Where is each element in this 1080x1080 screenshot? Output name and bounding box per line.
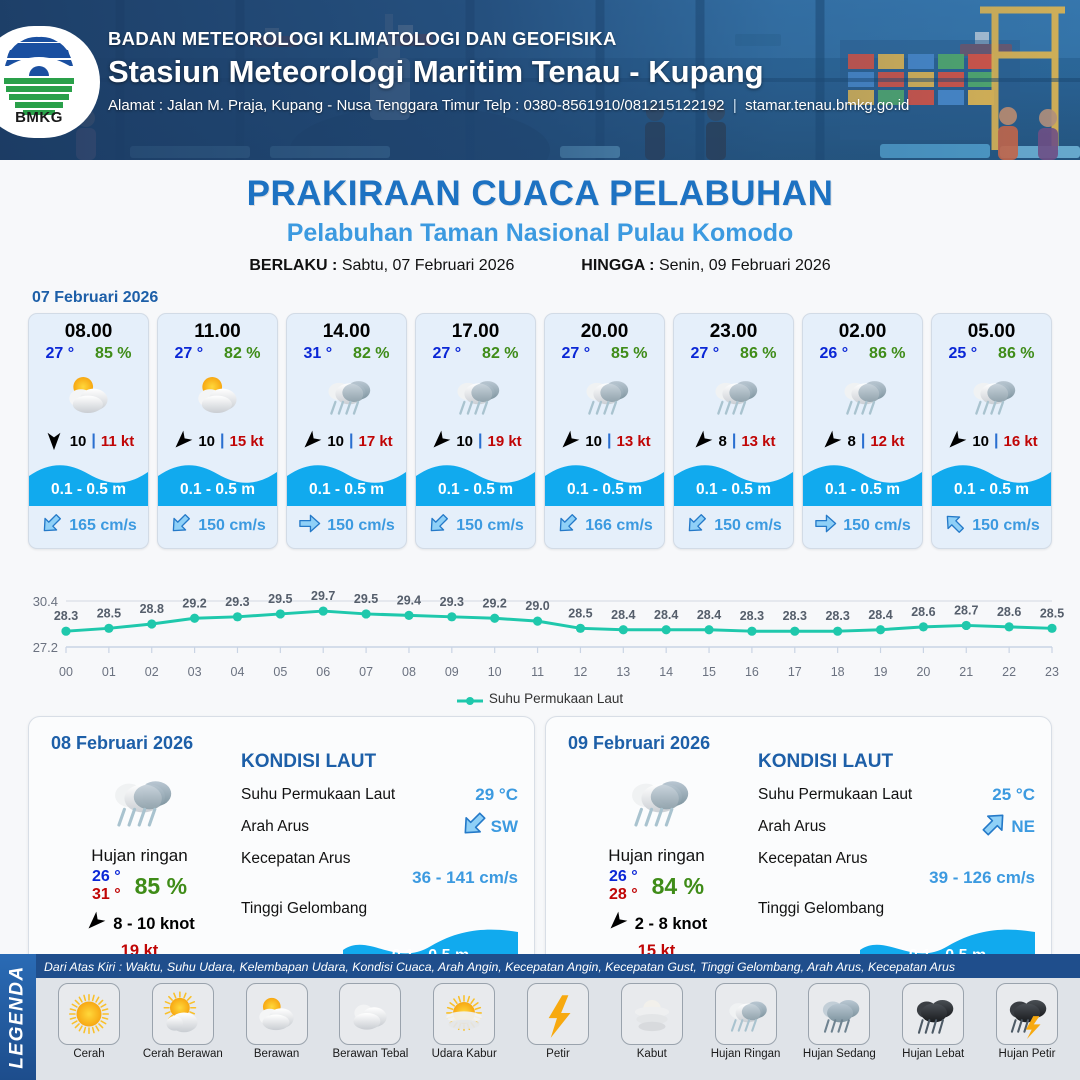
legend-item: Cerah Berawan xyxy=(138,983,228,1078)
legend-section: LEGENDA Dari Atas Kiri : Waktu, Suhu Uda… xyxy=(0,954,1080,1080)
card-weather-hujan-ringan-icon xyxy=(932,366,1051,424)
card-weather-hujan-ringan-icon xyxy=(416,366,535,424)
svg-text:28.6: 28.6 xyxy=(997,605,1021,619)
current-direction-arrow-icon xyxy=(40,512,63,540)
card-wave-zone: 0.1 - 0.5 m xyxy=(29,460,148,506)
svg-text:29.0: 29.0 xyxy=(525,599,549,613)
daily-condition: Hujan ringan xyxy=(47,846,232,866)
sst-label: Suhu Permukaan Laut xyxy=(241,786,395,804)
svg-text:28.6: 28.6 xyxy=(911,605,935,619)
card-wind-row: 10 | 11 kt xyxy=(29,424,148,460)
current-direction-value-group: SW xyxy=(460,810,518,843)
card-temp-hum-row: 27 ° 86 % xyxy=(674,345,793,366)
current-speed-label: Kecepatan Arus xyxy=(241,850,350,868)
current-direction-arrow-icon xyxy=(556,512,579,540)
card-weather-berawan-icon xyxy=(158,366,277,424)
svg-text:28.3: 28.3 xyxy=(54,609,78,623)
legend-petir-icon xyxy=(527,983,589,1045)
sst-chart-xaxis: 0001020304050607080910111213141516171819… xyxy=(14,665,1066,683)
daily-wind-row: 8 - 10 knot xyxy=(47,911,232,938)
daily-temp-hum-row: 26 ° 28 ° 84 % xyxy=(564,868,749,904)
wind-direction-arrow-icon xyxy=(43,430,65,452)
wind-direction-arrow-icon xyxy=(820,430,842,452)
card-wind-speed: 10 xyxy=(456,433,473,450)
card-current-speed: 150 cm/s xyxy=(456,517,524,535)
card-wind-speed: 10 xyxy=(327,433,344,450)
legend-banner-label: LEGENDA xyxy=(7,965,29,1068)
wind-direction-arrow-icon xyxy=(691,430,713,452)
card-weather-hujan-ringan-icon xyxy=(287,366,406,424)
legend-item: Berawan Tebal xyxy=(325,983,415,1078)
wave-height-label: Tinggi Gelombang xyxy=(241,900,367,918)
address-text: Alamat : Jalan M. Praja, Kupang - Nusa T… xyxy=(108,97,725,114)
legend-item: Udara Kabur xyxy=(419,983,509,1078)
card-current-row: 150 cm/s xyxy=(287,506,406,548)
legend-item-label: Hujan Lebat xyxy=(902,1048,964,1060)
svg-text:28.3: 28.3 xyxy=(825,609,849,623)
svg-text:28.3: 28.3 xyxy=(783,609,807,623)
wind-separator: | xyxy=(994,432,998,450)
legend-hujan-petir-icon xyxy=(996,983,1058,1045)
hourly-card[interactable]: 11.00 27 ° 82 % 10 | 15 kt 0.1 - 0.5 m xyxy=(157,313,278,549)
card-wind-speed: 10 xyxy=(70,433,87,450)
card-wind-row: 10 | 16 kt xyxy=(932,424,1051,460)
sst-legend-marker xyxy=(457,694,483,704)
card-current-row: 150 cm/s xyxy=(158,506,277,548)
daily-wind-range: 8 - 10 knot xyxy=(113,915,195,934)
card-current-speed: 166 cm/s xyxy=(585,517,653,535)
legend-item: Petir xyxy=(513,983,603,1078)
legend-banner: LEGENDA xyxy=(0,954,36,1080)
svg-text:29.5: 29.5 xyxy=(268,592,292,606)
hourly-card[interactable]: 23.00 27 ° 86 % 8 | 13 kt 0.1 - 0.5 m xyxy=(673,313,794,549)
card-humidity: 86 % xyxy=(998,345,1034,363)
daily-weather-hujan-ringan-icon xyxy=(47,761,232,844)
daily-sea-conditions: KONDISI LAUT Suhu Permukaan Laut 25 °C A… xyxy=(758,751,1035,974)
legend-item-label: Udara Kabur xyxy=(432,1048,497,1060)
bmkg-logo-text: BMKG xyxy=(0,109,81,126)
svg-text:28.7: 28.7 xyxy=(954,603,978,617)
wind-direction-arrow-icon xyxy=(558,430,580,452)
sst-value: 29 °C xyxy=(475,785,518,805)
daily-forecast-panel[interactable]: 08 Februari 2026 Hujan ringan 26 ° 31 ° … xyxy=(28,716,535,969)
legend-item-label: Berawan xyxy=(254,1048,299,1060)
daily-forecast-row: 08 Februari 2026 Hujan ringan 26 ° 31 ° … xyxy=(0,706,1080,969)
card-humidity: 86 % xyxy=(869,345,905,363)
legend-cerah-icon xyxy=(58,983,120,1045)
sst-xtick-label: 23 xyxy=(1045,665,1059,679)
legend-item: Hujan Lebat xyxy=(888,983,978,1078)
daily-sea-conditions: KONDISI LAUT Suhu Permukaan Laut 29 °C A… xyxy=(241,751,518,974)
card-wave-zone: 0.1 - 0.5 m xyxy=(803,460,922,506)
sst-xtick-label: 19 xyxy=(874,665,888,679)
card-temperature: 27 ° xyxy=(432,345,461,363)
daily-date: 09 Februari 2026 xyxy=(568,733,710,754)
daily-wind-direction-arrow-icon xyxy=(84,911,106,938)
card-humidity: 86 % xyxy=(740,345,776,363)
card-weather-hujan-ringan-icon xyxy=(545,366,664,424)
current-direction-arrow-icon xyxy=(814,512,837,540)
card-current-speed: 150 cm/s xyxy=(198,517,266,535)
legend-cerah-berawan-icon xyxy=(152,983,214,1045)
sst-label: Suhu Permukaan Laut xyxy=(758,786,912,804)
wind-separator: | xyxy=(91,432,95,450)
card-current-speed: 150 cm/s xyxy=(843,517,911,535)
card-wind-row: 10 | 19 kt xyxy=(416,424,535,460)
hourly-forecast-row: 08.00 27 ° 85 % 10 | 11 kt 0.1 - 0.5 m xyxy=(0,313,1080,549)
current-speed-value: 39 - 126 cm/s xyxy=(929,868,1035,888)
svg-text:29.2: 29.2 xyxy=(182,596,206,610)
sst-chart: 30.427.228.328.528.829.229.329.529.729.5… xyxy=(14,565,1066,665)
card-weather-berawan-icon xyxy=(29,366,148,424)
current-direction-arrow-icon xyxy=(298,512,321,540)
sst-xtick-label: 16 xyxy=(745,665,759,679)
current-direction-arrow-icon xyxy=(980,810,1008,843)
current-direction-value-group: NE xyxy=(980,810,1035,843)
legend-hujan-ringan-icon xyxy=(715,983,777,1045)
wind-separator: | xyxy=(861,432,865,450)
card-wind-speed: 10 xyxy=(972,433,989,450)
svg-text:30.4: 30.4 xyxy=(33,594,58,609)
sea-conditions-title: KONDISI LAUT xyxy=(758,751,1035,773)
station-name: Stasiun Meteorologi Maritim Tenau - Kupa… xyxy=(108,54,909,90)
wind-direction-arrow-icon xyxy=(429,430,451,452)
svg-text:28.4: 28.4 xyxy=(697,608,721,622)
legend-content: Dari Atas Kiri : Waktu, Suhu Udara, Kele… xyxy=(36,954,1080,1080)
title-block: PRAKIRAAN CUACA PELABUHAN Pelabuhan Tama… xyxy=(0,160,1080,275)
card-wind-gust: 15 kt xyxy=(229,433,263,450)
station-address: Alamat : Jalan M. Praja, Kupang - Nusa T… xyxy=(108,97,909,114)
current-direction-arrow-icon xyxy=(427,512,450,540)
daily-temp-min: 26 ° xyxy=(92,868,121,886)
daily-temp-hum-row: 26 ° 31 ° 85 % xyxy=(47,868,232,904)
daily-weather-hujan-ringan-icon xyxy=(564,761,749,844)
card-temp-hum-row: 26 ° 86 % xyxy=(803,345,922,366)
hourly-card[interactable]: 17.00 27 ° 82 % 10 | 19 kt 0.1 - 0.5 m xyxy=(415,313,536,549)
legend-hujan-lebat-icon xyxy=(902,983,964,1045)
card-wind-gust: 12 kt xyxy=(870,433,904,450)
legend-item-label: Hujan Sedang xyxy=(803,1048,876,1060)
card-current-speed: 165 cm/s xyxy=(69,517,137,535)
current-direction-label: Arah Arus xyxy=(758,818,826,836)
sst-xtick-label: 11 xyxy=(531,665,544,679)
card-wave-height: 0.1 - 0.5 m xyxy=(803,481,922,499)
wind-separator: | xyxy=(478,432,482,450)
sea-conditions-title: KONDISI LAUT xyxy=(241,751,518,773)
card-temp-hum-row: 27 ° 82 % xyxy=(158,345,277,366)
card-temperature: 27 ° xyxy=(561,345,590,363)
page-subtitle: Pelabuhan Taman Nasional Pulau Komodo xyxy=(0,219,1080,248)
sst-chart-legend: Suhu Permukaan Laut xyxy=(0,691,1080,706)
card-weather-hujan-ringan-icon xyxy=(674,366,793,424)
sst-chart-plot: 30.427.228.328.528.829.229.329.529.729.5… xyxy=(14,565,1066,665)
legend-item-label: Petir xyxy=(546,1048,570,1060)
wind-separator: | xyxy=(607,432,611,450)
header-text-block: BADAN METEOROLOGI KLIMATOLOGI DAN GEOFIS… xyxy=(108,28,909,114)
daily-temp-column: 26 ° 31 ° xyxy=(92,868,121,904)
card-humidity: 82 % xyxy=(482,345,518,363)
sst-xtick-label: 08 xyxy=(402,665,416,679)
card-time: 17.00 xyxy=(416,314,535,345)
daily-wind-row: 2 - 8 knot xyxy=(564,911,749,938)
card-temperature: 27 ° xyxy=(690,345,719,363)
card-temperature: 25 ° xyxy=(948,345,977,363)
wave-height-row: Tinggi Gelombang xyxy=(241,893,518,924)
legend-item-label: Cerah Berawan xyxy=(143,1048,223,1060)
wave-height-label: Tinggi Gelombang xyxy=(758,900,884,918)
wind-separator: | xyxy=(732,432,736,450)
legend-item: Kabut xyxy=(607,983,697,1078)
station-website: stamar.tenau.bmkg.go.id xyxy=(745,97,909,114)
current-direction-value: NE xyxy=(1011,817,1035,837)
card-time: 02.00 xyxy=(803,314,922,345)
daily-date: 08 Februari 2026 xyxy=(51,733,193,754)
card-current-speed: 150 cm/s xyxy=(972,517,1040,535)
sst-xtick-label: 15 xyxy=(702,665,716,679)
svg-text:28.4: 28.4 xyxy=(868,608,892,622)
card-temperature: 31 ° xyxy=(303,345,332,363)
legend-item: Hujan Petir xyxy=(982,983,1072,1078)
card-wind-row: 10 | 15 kt xyxy=(158,424,277,460)
legend-item: Hujan Ringan xyxy=(701,983,791,1078)
legend-item-label: Hujan Petir xyxy=(999,1048,1056,1060)
wind-separator: | xyxy=(220,432,224,450)
address-separator: | xyxy=(729,97,741,114)
svg-text:29.4: 29.4 xyxy=(397,593,421,607)
validity-row: BERLAKU : Sabtu, 07 Februari 2026 HINGGA… xyxy=(0,257,1080,275)
valid-from-value: Sabtu, 07 Februari 2026 xyxy=(342,257,515,274)
current-speed-label: Kecepatan Arus xyxy=(758,850,867,868)
card-time: 11.00 xyxy=(158,314,277,345)
sst-row: Suhu Permukaan Laut 29 °C xyxy=(241,779,518,810)
current-direction-row: Arah Arus NE xyxy=(758,810,1035,843)
sst-xtick-label: 04 xyxy=(231,665,245,679)
current-speed-value: 36 - 141 cm/s xyxy=(412,868,518,888)
valid-until-value: Senin, 09 Februari 2026 xyxy=(659,257,831,274)
current-direction-arrow-icon xyxy=(460,810,488,843)
card-wind-speed: 10 xyxy=(585,433,602,450)
current-direction-row: Arah Arus SW xyxy=(241,810,518,843)
sst-xtick-label: 00 xyxy=(59,665,73,679)
svg-text:29.3: 29.3 xyxy=(440,595,464,609)
card-wind-speed: 8 xyxy=(847,433,855,450)
card-time: 14.00 xyxy=(287,314,406,345)
card-wind-gust: 13 kt xyxy=(616,433,650,450)
sst-xtick-label: 02 xyxy=(145,665,159,679)
legend-kabut-icon xyxy=(621,983,683,1045)
legend-item: Cerah xyxy=(44,983,134,1078)
legend-item: Berawan xyxy=(232,983,322,1078)
daily-wind-range: 2 - 8 knot xyxy=(635,915,707,934)
sst-xtick-label: 03 xyxy=(188,665,202,679)
legend-note: Dari Atas Kiri : Waktu, Suhu Udara, Kele… xyxy=(36,954,1080,978)
svg-text:28.5: 28.5 xyxy=(568,606,592,620)
valid-until-label: HINGGA : xyxy=(581,257,654,274)
card-wave-height: 0.1 - 0.5 m xyxy=(29,481,148,499)
hourly-card[interactable]: 05.00 25 ° 86 % 10 | 16 kt 0.1 - 0.5 m xyxy=(931,313,1052,549)
card-temperature: 27 ° xyxy=(45,345,74,363)
daily-humidity: 84 % xyxy=(652,873,704,900)
card-wave-height: 0.1 - 0.5 m xyxy=(674,481,793,499)
valid-from-label: BERLAKU : xyxy=(249,257,337,274)
legend-item-label: Kabut xyxy=(637,1048,667,1060)
sst-xtick-label: 10 xyxy=(488,665,502,679)
sst-xtick-label: 13 xyxy=(616,665,630,679)
sst-legend-label: Suhu Permukaan Laut xyxy=(489,691,623,706)
hourly-date: 07 Februari 2026 xyxy=(32,289,1080,307)
legend-item: Hujan Sedang xyxy=(794,983,884,1078)
sst-xtick-label: 22 xyxy=(1002,665,1016,679)
card-temp-hum-row: 31 ° 82 % xyxy=(287,345,406,366)
card-current-row: 166 cm/s xyxy=(545,506,664,548)
legend-item-label: Hujan Ringan xyxy=(711,1048,781,1060)
card-humidity: 85 % xyxy=(95,345,131,363)
sst-xtick-label: 18 xyxy=(831,665,845,679)
legend-items-row: Cerah Cerah Berawan Berawan Berawan Teba… xyxy=(36,978,1080,1080)
card-temperature: 26 ° xyxy=(819,345,848,363)
legend-item-label: Berawan Tebal xyxy=(332,1048,408,1060)
svg-text:29.5: 29.5 xyxy=(354,592,378,606)
card-wave-height: 0.1 - 0.5 m xyxy=(287,481,406,499)
current-direction-label: Arah Arus xyxy=(241,818,309,836)
card-wind-gust: 11 kt xyxy=(101,433,134,450)
svg-text:28.5: 28.5 xyxy=(1040,606,1064,620)
card-wind-gust: 16 kt xyxy=(1003,433,1037,450)
svg-text:28.5: 28.5 xyxy=(97,606,121,620)
card-time: 08.00 xyxy=(29,314,148,345)
svg-text:29.2: 29.2 xyxy=(483,596,507,610)
hourly-card[interactable]: 08.00 27 ° 85 % 10 | 11 kt 0.1 - 0.5 m xyxy=(28,313,149,549)
card-weather-hujan-ringan-icon xyxy=(803,366,922,424)
svg-text:28.8: 28.8 xyxy=(140,602,164,616)
card-wave-zone: 0.1 - 0.5 m xyxy=(545,460,664,506)
daily-temp-max: 31 ° xyxy=(92,886,121,904)
sst-xtick-label: 01 xyxy=(102,665,116,679)
sst-xtick-label: 06 xyxy=(316,665,330,679)
hourly-card[interactable]: 14.00 31 ° 82 % 10 | 17 kt 0.1 - 0.5 m xyxy=(286,313,407,549)
card-current-speed: 150 cm/s xyxy=(327,517,395,535)
card-wave-height: 0.1 - 0.5 m xyxy=(416,481,535,499)
legend-hujan-sedang-icon xyxy=(808,983,870,1045)
card-current-row: 150 cm/s xyxy=(932,506,1051,548)
wind-direction-arrow-icon xyxy=(945,430,967,452)
page-title: PRAKIRAAN CUACA PELABUHAN xyxy=(0,174,1080,214)
card-wave-zone: 0.1 - 0.5 m xyxy=(287,460,406,506)
card-wind-row: 8 | 13 kt xyxy=(674,424,793,460)
legend-udara-kabur-icon xyxy=(433,983,495,1045)
daily-condition: Hujan ringan xyxy=(564,846,749,866)
card-current-row: 165 cm/s xyxy=(29,506,148,548)
card-current-row: 150 cm/s xyxy=(674,506,793,548)
hourly-card[interactable]: 02.00 26 ° 86 % 8 | 12 kt 0.1 - 0.5 m xyxy=(802,313,923,549)
card-wind-row: 10 | 17 kt xyxy=(287,424,406,460)
svg-text:28.3: 28.3 xyxy=(740,609,764,623)
wind-separator: | xyxy=(349,432,353,450)
legend-item-label: Cerah xyxy=(73,1048,104,1060)
card-humidity: 82 % xyxy=(353,345,389,363)
daily-humidity: 85 % xyxy=(135,873,187,900)
card-humidity: 82 % xyxy=(224,345,260,363)
card-current-row: 150 cm/s xyxy=(416,506,535,548)
card-wave-height: 0.1 - 0.5 m xyxy=(545,481,664,499)
card-wind-gust: 13 kt xyxy=(741,433,775,450)
card-wind-speed: 8 xyxy=(718,433,726,450)
sst-xtick-label: 21 xyxy=(959,665,973,679)
card-time: 20.00 xyxy=(545,314,664,345)
sst-xtick-label: 05 xyxy=(273,665,287,679)
daily-temp-column: 26 ° 28 ° xyxy=(609,868,638,904)
card-wind-speed: 10 xyxy=(198,433,215,450)
card-wave-zone: 0.1 - 0.5 m xyxy=(416,460,535,506)
wind-direction-arrow-icon xyxy=(171,430,193,452)
current-direction-value: SW xyxy=(491,817,518,837)
sst-xtick-label: 12 xyxy=(573,665,587,679)
card-wave-zone: 0.1 - 0.5 m xyxy=(932,460,1051,506)
card-temp-hum-row: 27 ° 85 % xyxy=(545,345,664,366)
card-temp-hum-row: 27 ° 85 % xyxy=(29,345,148,366)
current-direction-arrow-icon xyxy=(943,512,966,540)
daily-left-column: Hujan ringan 26 ° 31 ° 85 % 8 - 10 knot … xyxy=(47,761,232,961)
sst-xtick-label: 20 xyxy=(916,665,930,679)
legend-berawan-tebal-icon xyxy=(339,983,401,1045)
card-current-speed: 150 cm/s xyxy=(714,517,782,535)
svg-text:27.2: 27.2 xyxy=(33,640,58,655)
daily-wind-direction-arrow-icon xyxy=(606,911,628,938)
wave-height-row: Tinggi Gelombang xyxy=(758,893,1035,924)
card-temp-hum-row: 27 ° 82 % xyxy=(416,345,535,366)
svg-text:28.4: 28.4 xyxy=(654,608,678,622)
daily-temp-min: 26 ° xyxy=(609,868,638,886)
card-wind-gust: 17 kt xyxy=(358,433,392,450)
card-wave-zone: 0.1 - 0.5 m xyxy=(158,460,277,506)
daily-left-column: Hujan ringan 26 ° 28 ° 84 % 2 - 8 knot 1… xyxy=(564,761,749,961)
daily-temp-max: 28 ° xyxy=(609,886,638,904)
page-header: BMKG BADAN METEOROLOGI KLIMATOLOGI DAN G… xyxy=(0,0,1080,160)
card-wind-row: 8 | 12 kt xyxy=(803,424,922,460)
daily-forecast-panel[interactable]: 09 Februari 2026 Hujan ringan 26 ° 28 ° … xyxy=(545,716,1052,969)
card-time: 05.00 xyxy=(932,314,1051,345)
agency-name: BADAN METEOROLOGI KLIMATOLOGI DAN GEOFIS… xyxy=(108,28,909,50)
current-direction-arrow-icon xyxy=(169,512,192,540)
svg-text:28.4: 28.4 xyxy=(611,608,635,622)
sst-xtick-label: 14 xyxy=(659,665,673,679)
sst-xtick-label: 07 xyxy=(359,665,373,679)
sst-value: 25 °C xyxy=(992,785,1035,805)
card-wind-gust: 19 kt xyxy=(487,433,521,450)
card-temperature: 27 ° xyxy=(174,345,203,363)
card-temp-hum-row: 25 ° 86 % xyxy=(932,345,1051,366)
sst-xtick-label: 17 xyxy=(788,665,802,679)
card-humidity: 85 % xyxy=(611,345,647,363)
card-wave-height: 0.1 - 0.5 m xyxy=(158,481,277,499)
card-current-row: 150 cm/s xyxy=(803,506,922,548)
hourly-card[interactable]: 20.00 27 ° 85 % 10 | 13 kt 0.1 - 0.5 m xyxy=(544,313,665,549)
card-wave-zone: 0.1 - 0.5 m xyxy=(674,460,793,506)
current-direction-arrow-icon xyxy=(685,512,708,540)
card-wave-height: 0.1 - 0.5 m xyxy=(932,481,1051,499)
card-wind-row: 10 | 13 kt xyxy=(545,424,664,460)
wind-direction-arrow-icon xyxy=(300,430,322,452)
svg-text:29.3: 29.3 xyxy=(225,595,249,609)
svg-text:29.7: 29.7 xyxy=(311,589,335,603)
sst-xtick-label: 09 xyxy=(445,665,459,679)
legend-berawan-icon xyxy=(246,983,308,1045)
card-time: 23.00 xyxy=(674,314,793,345)
